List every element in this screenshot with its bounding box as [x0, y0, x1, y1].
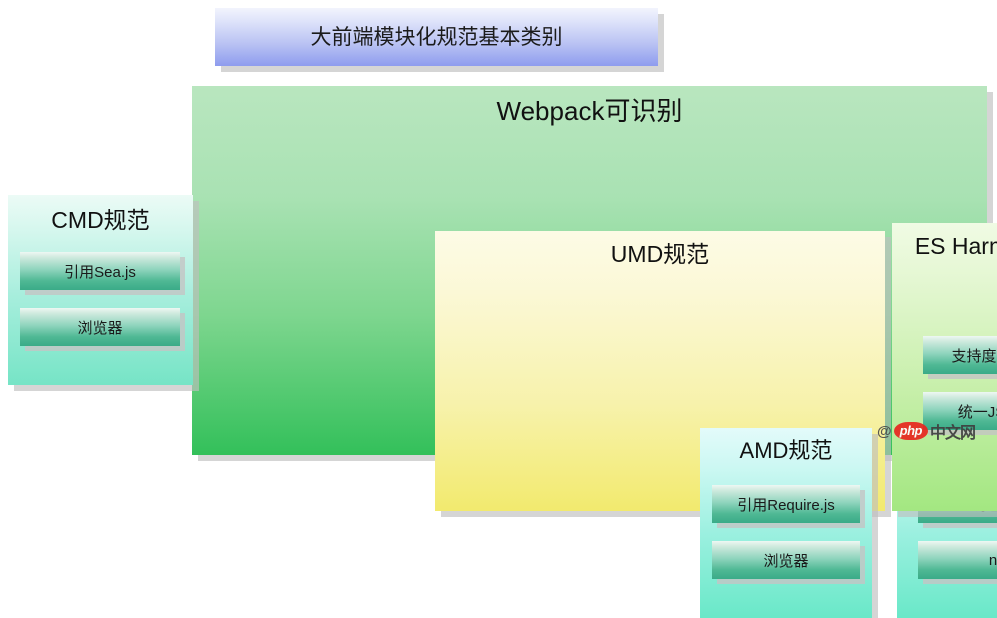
watermark-site-label: 中文网 [930, 419, 975, 443]
diagram-canvas: 大前端模块化规范基本类别 Webpack可识别 UMD规范 AMD规范 引用Re… [0, 0, 997, 463]
watermark-at-symbol: @ [877, 423, 892, 440]
commonjs-item-1: node [918, 541, 997, 579]
cmd-item-0: 引用Sea.js [20, 252, 180, 290]
es-harmony-group: ES Harmony规范 支持度暂不完善 统一JS全环境 [892, 223, 997, 511]
amd-item-1: 浏览器 [712, 541, 860, 579]
es-harmony-item-0: 支持度暂不完善 [923, 336, 997, 374]
webpack-container: Webpack可识别 UMD规范 AMD规范 引用Require.js 浏览器 … [192, 86, 987, 455]
amd-item-0: 引用Require.js [712, 485, 860, 523]
diagram-title-label: 大前端模块化规范基本类别 [215, 27, 658, 48]
watermark: @ php 中文网 [877, 419, 975, 443]
umd-group: UMD规范 AMD规范 引用Require.js 浏览器 CommonJs规范 … [435, 231, 885, 511]
amd-group-label: AMD规范 [700, 440, 872, 462]
cmd-item-1: 浏览器 [20, 308, 180, 346]
cmd-group-label: CMD规范 [8, 209, 193, 232]
php-logo-icon: php [894, 422, 928, 440]
diagram-title-banner: 大前端模块化规范基本类别 [215, 8, 658, 66]
es-harmony-group-label: ES Harmony规范 [892, 235, 997, 258]
cmd-group: CMD规范 引用Sea.js 浏览器 [8, 195, 193, 385]
webpack-container-label: Webpack可识别 [192, 98, 987, 124]
amd-group: AMD规范 引用Require.js 浏览器 [700, 428, 872, 618]
umd-group-label: UMD规范 [435, 243, 885, 266]
